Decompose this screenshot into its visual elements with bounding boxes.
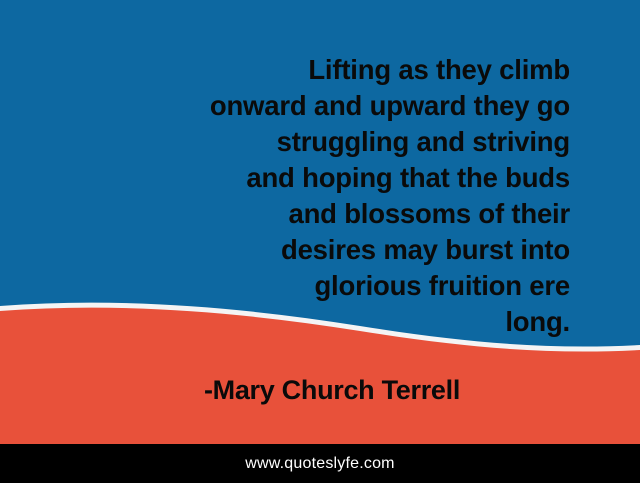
- quote-author: -Mary Church Terrell: [0, 375, 640, 406]
- site-url-prefix: www.: [245, 455, 284, 472]
- footer-bar: www.quoteslyfe.com: [0, 444, 640, 483]
- site-url[interactable]: www.quoteslyfe.com: [245, 455, 394, 473]
- quote-line: long.: [40, 304, 570, 340]
- quote-line: desires may burst into: [40, 232, 570, 268]
- quote-line: onward and upward they go: [40, 88, 570, 124]
- quote-line: Lifting as they climb: [40, 52, 570, 88]
- quote-text: Lifting as they climb onward and upward …: [40, 52, 570, 340]
- quote-line: struggling and striving: [40, 124, 570, 160]
- site-url-domain: quoteslyfe.com: [284, 455, 394, 472]
- quote-card: Lifting as they climb onward and upward …: [0, 0, 640, 483]
- quote-line: glorious fruition ere: [40, 268, 570, 304]
- quote-line: and blossoms of their: [40, 196, 570, 232]
- quote-line: and hoping that the buds: [40, 160, 570, 196]
